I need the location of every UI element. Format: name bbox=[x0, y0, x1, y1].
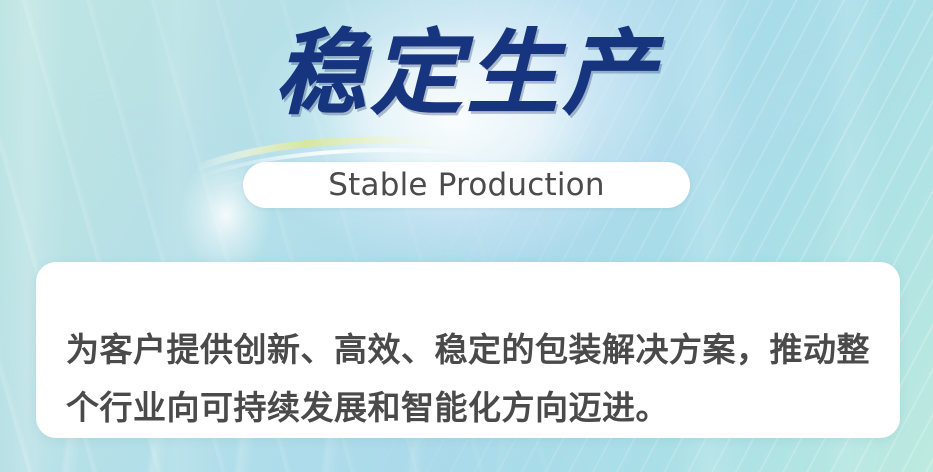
page-title: 稳定生产 bbox=[0, 18, 933, 130]
stable-production-banner: 稳定生产 Stable Production 为客户提供创新、高效、稳定的包装解… bbox=[0, 0, 933, 472]
description-card: 为客户提供创新、高效、稳定的包装解决方案，推动整个行业向可持续发展和智能化方向迈… bbox=[36, 262, 900, 438]
description-text: 为客户提供创新、高效、稳定的包装解决方案，推动整个行业向可持续发展和智能化方向迈… bbox=[66, 321, 870, 437]
subtitle-pill: Stable Production bbox=[243, 162, 690, 208]
subtitle-label: Stable Production bbox=[328, 170, 604, 201]
